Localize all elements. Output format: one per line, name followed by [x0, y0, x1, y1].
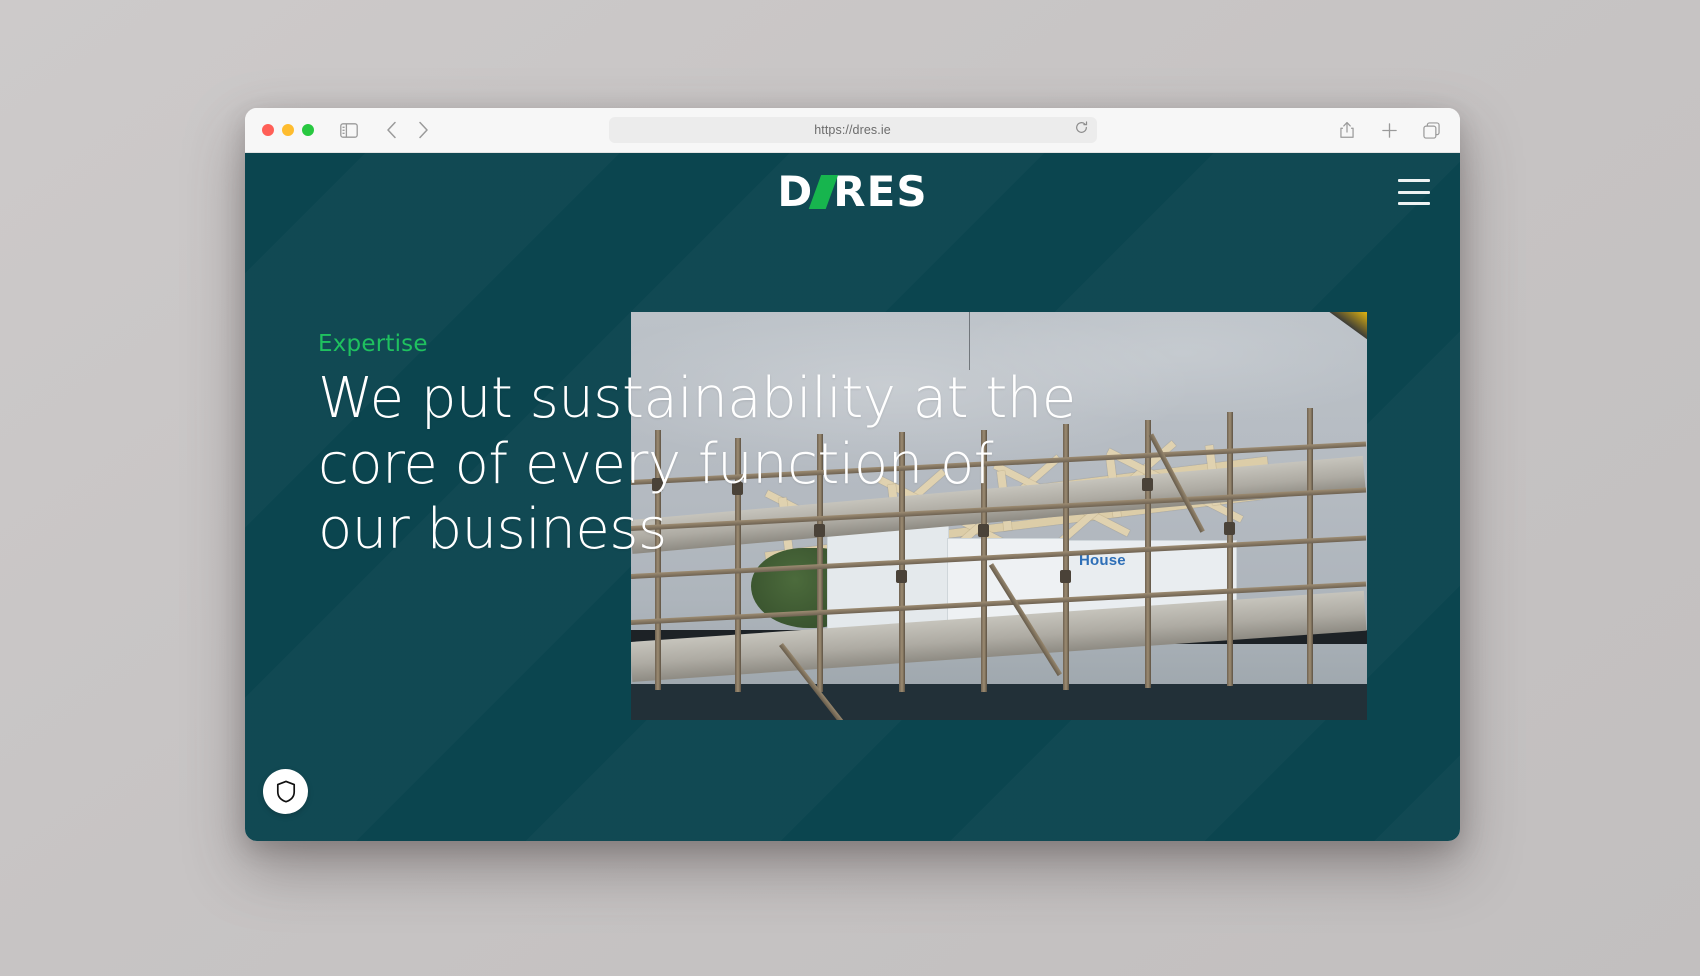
- share-icon[interactable]: [1334, 117, 1360, 143]
- menu-line-2: [1398, 191, 1430, 194]
- browser-toolbar: https://dres.ie: [245, 108, 1460, 153]
- logo-text-res: RES: [833, 171, 927, 213]
- plus-icon[interactable]: [1376, 117, 1402, 143]
- privacy-shield-button[interactable]: [263, 769, 308, 814]
- logo-text-d: D: [777, 171, 813, 213]
- scaffold-pole: [1145, 420, 1151, 688]
- scaffold-clamp: [1142, 478, 1153, 491]
- scaffold-clamp: [896, 570, 907, 583]
- back-arrow-icon[interactable]: [378, 117, 404, 143]
- minimize-button[interactable]: [282, 124, 294, 136]
- site-header: D RES: [245, 153, 1460, 231]
- hamburger-menu-icon[interactable]: [1398, 179, 1430, 205]
- scaffold-clamp: [1224, 522, 1235, 535]
- address-bar[interactable]: https://dres.ie: [609, 117, 1097, 143]
- hero-eyebrow: Expertise: [318, 331, 1078, 357]
- toolbar-right-actions: [1334, 117, 1444, 143]
- menu-line-3: [1398, 202, 1430, 205]
- forward-arrow-icon[interactable]: [410, 117, 436, 143]
- tabs-icon[interactable]: [1418, 117, 1444, 143]
- close-button[interactable]: [262, 124, 274, 136]
- page-viewport: D RES KAVANAGH: [245, 153, 1460, 841]
- browser-window: https://dres.ie: [245, 108, 1460, 841]
- url-text: https://dres.ie: [814, 123, 891, 137]
- structure-band: [631, 684, 1367, 720]
- hero-copy: Expertise We put sustainability at the c…: [318, 331, 1078, 563]
- reload-icon[interactable]: [1075, 121, 1088, 139]
- sidebar-icon[interactable]: [336, 117, 362, 143]
- brand-logo[interactable]: D RES: [777, 170, 927, 214]
- menu-line-1: [1398, 179, 1430, 182]
- scaffold-clamp: [1060, 570, 1071, 583]
- hero-headline: We put sustainability at the core of eve…: [318, 366, 1078, 563]
- window-controls: [262, 124, 314, 136]
- maximize-button[interactable]: [302, 124, 314, 136]
- desktop-backdrop: https://dres.ie: [0, 0, 1700, 976]
